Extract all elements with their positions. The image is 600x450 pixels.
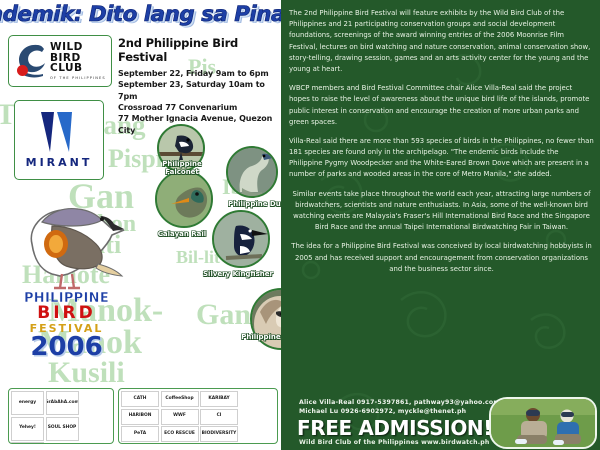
bird-label-calayan-rail: Calayan Rail xyxy=(140,230,224,238)
bird-photo-calayan-rail xyxy=(155,170,213,228)
sponsor-name: CI xyxy=(217,414,222,418)
sponsor-logo: Yehey! xyxy=(11,417,44,441)
bird-festival-poster: Tang anggang Pispis Gan Ibon Hamuti Hamo… xyxy=(0,0,600,450)
article-paragraph: The idea for a Philippine Bird Festival … xyxy=(289,241,594,275)
article-body: The 2nd Philippine Bird Festival will fe… xyxy=(289,8,594,283)
sponsor-logo: Figaro xyxy=(11,442,44,444)
poster-title: Endemik: Dito lang sa Pinas! xyxy=(0,2,281,26)
bird-label-palawan-peacock-pheasant: Palawan Peacock-Pheasant xyxy=(270,370,281,386)
sponsor-name: BIODIVERSITY xyxy=(202,432,237,436)
sponsor-logo: ISLA xyxy=(200,444,238,445)
watermark-word: Kusili xyxy=(48,358,125,388)
article-panel: The 2nd Philippine Bird Festival will fe… xyxy=(281,0,600,450)
sponsor-logo: WWF xyxy=(161,409,199,425)
sponsor-logo: BIODIVERSITY xyxy=(200,426,238,442)
bird-label-duck: Philippine Duck xyxy=(228,200,281,208)
mirant-wordmark: MIRANT xyxy=(26,156,93,169)
sponsor-logo: energy xyxy=(11,391,44,415)
bird-silhouette-icon xyxy=(13,41,47,81)
event-date-friday: September 22, Friday 9am to 6pm xyxy=(118,68,280,79)
sponsor-logo: CI xyxy=(200,409,238,425)
sponsor-name: WWF xyxy=(173,414,186,418)
pbf-2006-logo: PHILIPPINE BIRD FESTIVAL 2006 xyxy=(14,292,119,360)
sponsor-logo: Wetland Foundation, Inc. xyxy=(161,444,199,445)
bird-photo-duck xyxy=(226,146,278,198)
sponsor-logo: KARIBAY xyxy=(200,391,238,407)
kids-with-binoculars-photo xyxy=(489,397,597,449)
article-paragraph: The 2nd Philippine Bird Festival will fe… xyxy=(289,8,594,75)
sponsor-name: SOUL SHOP xyxy=(48,426,77,430)
pbf-logo-year: 2006 xyxy=(14,334,119,360)
wbcp-subtitle: OF THE PHILIPPINES xyxy=(50,76,107,80)
mirant-chevron-icon xyxy=(37,112,81,152)
left-panel: Tang anggang Pispis Gan Ibon Hamuti Hamo… xyxy=(0,0,281,450)
sponsor-logo: ECO RESCUE xyxy=(161,426,199,442)
article-paragraph: Similar events take place throughout the… xyxy=(289,189,594,234)
sponsor-logo: HARIBON xyxy=(121,409,159,425)
organizer-footer: Wild Bird Club of the Philippines www.bi… xyxy=(299,439,490,446)
event-venue: Crossroad 77 Convenarium xyxy=(118,102,280,113)
bird-label-philippine-eagle: Philippine Eagle xyxy=(226,333,281,341)
sponsor-logo: GrAbAhA.com xyxy=(46,391,79,415)
red-dot-icon xyxy=(17,65,28,76)
article-paragraph: Villa-Real said there are more than 593 … xyxy=(289,136,594,181)
sponsor-logo: CoffeeShop xyxy=(161,391,199,407)
sponsors-left-panel: energyGrAbAhA.comYehey!SOUL SHOPFigaro xyxy=(8,388,114,444)
watermark-word: Gan xyxy=(196,300,251,330)
article-paragraph: WBCP members and Bird Festival Committee… xyxy=(289,83,594,128)
watermark-word: Bil-lit xyxy=(176,248,220,266)
sponsor-name: KARIBAY xyxy=(208,397,229,401)
sponsor-name: HARIBON xyxy=(129,414,152,418)
bird-photo-silvery-kingfisher xyxy=(212,210,270,268)
sponsor-name: PeTA xyxy=(134,432,146,436)
sponsor-logo: CATH xyxy=(121,391,159,407)
sponsor-name: CATH xyxy=(134,397,147,401)
pbf-logo-line-bird: BIRD xyxy=(14,305,119,323)
sponsors-right-panel: CATHCoffeeShopKARIBAYHARIBONWWFCIPeTAECO… xyxy=(118,388,278,444)
event-date-saturday: September 23, Saturday 10am to 7pm xyxy=(118,79,280,102)
sponsor-name: CoffeeShop xyxy=(165,397,193,401)
white-eared-brown-dove-illustration xyxy=(12,182,132,302)
event-title: 2nd Philippine Bird Festival xyxy=(118,36,280,64)
sponsor-name: energy xyxy=(19,401,36,405)
sponsor-logo: SOUL SHOP xyxy=(46,417,79,441)
event-address: 77 Mother Ignacia Avenue, Quezon City xyxy=(118,113,280,136)
sponsor-name: GrAbAhA.com xyxy=(46,401,79,405)
contact-strip: Alice Villa-Real 0917-5397861, pathway93… xyxy=(281,396,600,450)
sponsor-name: ECO RESCUE xyxy=(164,432,195,436)
sponsor-logo: PeTA xyxy=(121,426,159,442)
bird-label-falconet: Philippine Falconet xyxy=(146,160,218,176)
event-info: 2nd Philippine Bird Festival September 2… xyxy=(118,36,280,136)
bird-label-silvery-kingfisher: Silvery Kingfisher xyxy=(188,270,281,278)
wbcp-logo-box: WILD BIRD CLUB OF THE PHILIPPINES xyxy=(8,35,112,87)
wbcp-name: WILD BIRD CLUB xyxy=(50,42,107,74)
mirant-logo-box: MIRANT xyxy=(14,100,104,180)
sponsor-logo: Katala Foundation xyxy=(121,444,159,445)
sponsor-name: Yehey! xyxy=(19,426,36,430)
poster-banner: Endemik: Dito lang sa Pinas! xyxy=(0,0,281,28)
free-admission-text: FREE ADMISSION! xyxy=(297,416,492,440)
